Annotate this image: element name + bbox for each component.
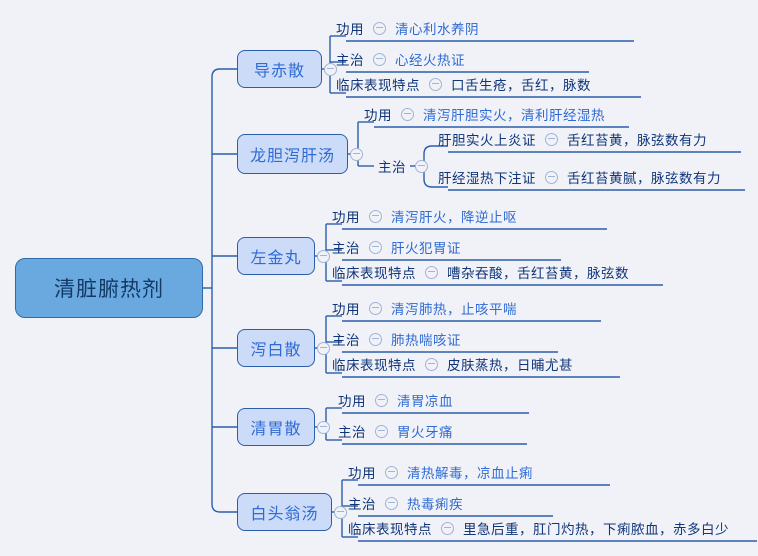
collapse-minus-icon[interactable]: [375, 394, 388, 407]
leaf-label: 功用: [332, 298, 360, 318]
leaf-label: 肝胆实火上炎证: [438, 129, 536, 149]
collapse-minus-icon[interactable]: [369, 241, 382, 254]
collapse-minus-icon[interactable]: [429, 78, 442, 91]
collapse-toggle-qingweisan[interactable]: [317, 421, 330, 434]
leaf-row[interactable]: 功用 清心利水养阴: [336, 15, 479, 41]
collapse-minus-icon[interactable]: [369, 210, 382, 223]
leaf-row[interactable]: 功用 清胃凉血: [338, 387, 453, 413]
leaf-value: 清心利水养阴: [395, 18, 479, 38]
topic-node-label: 左金丸: [250, 244, 301, 268]
collapse-minus-icon[interactable]: [425, 266, 438, 279]
leaf-label: 主治: [378, 156, 406, 176]
collapse-minus-icon[interactable]: [385, 466, 398, 479]
collapse-toggle-xiebaisan[interactable]: [317, 342, 330, 355]
leaf-row[interactable]: 主治: [378, 153, 437, 179]
leaf-row[interactable]: 临床表现特点 嘈杂吞酸，舌红苔黄，脉弦数: [332, 259, 629, 285]
topic-node-label: 龙胆泻肝汤: [250, 142, 335, 166]
collapse-minus-icon[interactable]: [545, 171, 558, 184]
topic-node-zuojinwan[interactable]: 左金丸: [237, 237, 315, 275]
collapse-minus-icon[interactable]: [385, 497, 398, 510]
topic-node-longdanxiegantang[interactable]: 龙胆泻肝汤: [237, 134, 348, 174]
collapse-toggle-baitouwengtang[interactable]: [334, 506, 347, 519]
topic-node-label: 泻白散: [250, 336, 301, 360]
collapse-minus-icon[interactable]: [401, 108, 414, 121]
collapse-toggle-longdanxiegantang[interactable]: [350, 148, 363, 161]
leaf-label: 主治: [336, 49, 364, 69]
leaf-label: 功用: [332, 206, 360, 226]
topic-node-baitouwengtang[interactable]: 白头翁汤: [237, 493, 332, 531]
leaf-value: 清热解毒，凉血止痢: [407, 462, 533, 482]
leaf-row[interactable]: 主治 胃火牙痛: [338, 418, 453, 444]
collapse-minus-icon[interactable]: [369, 333, 382, 346]
leaf-label: 主治: [332, 329, 360, 349]
leaf-value: 肝火犯胃证: [391, 237, 461, 257]
leaf-value: 里急后重，肛门灼热，下痢脓血，赤多白少: [463, 518, 729, 538]
leaf-row[interactable]: 临床表现特点 口舌生疮，舌红，脉数: [336, 71, 591, 97]
leaf-row[interactable]: 功用 清泻肝胆实火，清利肝经湿热: [364, 101, 605, 127]
leaf-label: 功用: [348, 462, 376, 482]
leaf-row[interactable]: 功用 清泻肺热，止咳平喘: [332, 295, 517, 321]
leaf-value: 热毒痢疾: [407, 493, 463, 513]
leaf-label: 临床表现特点: [332, 354, 416, 374]
leaf-row[interactable]: 主治 心经火热证: [336, 46, 465, 72]
leaf-row[interactable]: 主治 肺热喘咳证: [332, 326, 461, 352]
leaf-row[interactable]: 主治 肝火犯胃证: [332, 234, 461, 260]
leaf-value: 心经火热证: [395, 49, 465, 69]
leaf-label: 功用: [338, 390, 366, 410]
collapse-minus-icon[interactable]: [441, 522, 454, 535]
topic-node-xiebaisan[interactable]: 泻白散: [237, 329, 315, 367]
leaf-label: 主治: [348, 493, 376, 513]
leaf-value: 清泻肝火，降逆止呕: [391, 206, 517, 226]
root-node[interactable]: 清脏腑热剂: [15, 258, 203, 318]
topic-node-label: 白头翁汤: [250, 500, 318, 524]
leaf-label: 功用: [364, 104, 392, 124]
topic-node-qingweisan[interactable]: 清胃散: [237, 408, 315, 446]
collapse-minus-icon[interactable]: [375, 425, 388, 438]
leaf-value: 胃火牙痛: [397, 421, 453, 441]
root-node-label: 清脏腑热剂: [54, 273, 164, 303]
leaf-value: 嘈杂吞酸，舌红苔黄，脉弦数: [447, 262, 629, 282]
topic-node-label: 清胃散: [250, 415, 301, 439]
leaf-label: 肝经湿热下注证: [438, 167, 536, 187]
leaf-value: 舌红苔黄腻，脉弦数有力: [567, 167, 721, 187]
leaf-value: 清泻肝胆实火，清利肝经湿热: [423, 104, 605, 124]
leaf-label: 临床表现特点: [332, 262, 416, 282]
leaf-row[interactable]: 主治 热毒痢疾: [348, 490, 463, 516]
mindmap-canvas: 清脏腑热剂 导赤散 龙胆泻肝汤 左金丸 泻白散 清胃散 白头翁汤 功用 清心利水…: [0, 0, 758, 556]
leaf-label: 主治: [338, 421, 366, 441]
topic-node-label: 导赤散: [254, 57, 305, 81]
leaf-value: 口舌生疮，舌红，脉数: [451, 74, 591, 94]
collapse-minus-icon[interactable]: [545, 133, 558, 146]
collapse-toggle-zuojinwan[interactable]: [317, 250, 330, 263]
leaf-value: 清泻肺热，止咳平喘: [391, 298, 517, 318]
collapse-minus-icon[interactable]: [369, 302, 382, 315]
leaf-value: 肺热喘咳证: [391, 329, 461, 349]
leaf-label: 临床表现特点: [336, 74, 420, 94]
leaf-label: 主治: [332, 237, 360, 257]
leaf-row[interactable]: 肝胆实火上炎证 舌红苔黄，脉弦数有力: [438, 126, 707, 152]
leaf-row[interactable]: 功用 清热解毒，凉血止痢: [348, 459, 533, 485]
leaf-value: 皮肤蒸热，日晡尤甚: [447, 354, 573, 374]
leaf-row[interactable]: 临床表现特点 皮肤蒸热，日晡尤甚: [332, 351, 573, 377]
collapse-minus-icon[interactable]: [425, 358, 438, 371]
collapse-minus-icon[interactable]: [415, 160, 428, 173]
leaf-row[interactable]: 临床表现特点 里急后重，肛门灼热，下痢脓血，赤多白少: [348, 515, 729, 541]
leaf-label: 功用: [336, 18, 364, 38]
leaf-value: 舌红苔黄，脉弦数有力: [567, 129, 707, 149]
collapse-minus-icon[interactable]: [373, 53, 386, 66]
leaf-row[interactable]: 功用 清泻肝火，降逆止呕: [332, 203, 517, 229]
topic-node-daochisan[interactable]: 导赤散: [237, 50, 322, 88]
leaf-value: 清胃凉血: [397, 390, 453, 410]
leaf-row[interactable]: 肝经湿热下注证 舌红苔黄腻，脉弦数有力: [438, 164, 721, 190]
collapse-minus-icon[interactable]: [373, 22, 386, 35]
leaf-label: 临床表现特点: [348, 518, 432, 538]
